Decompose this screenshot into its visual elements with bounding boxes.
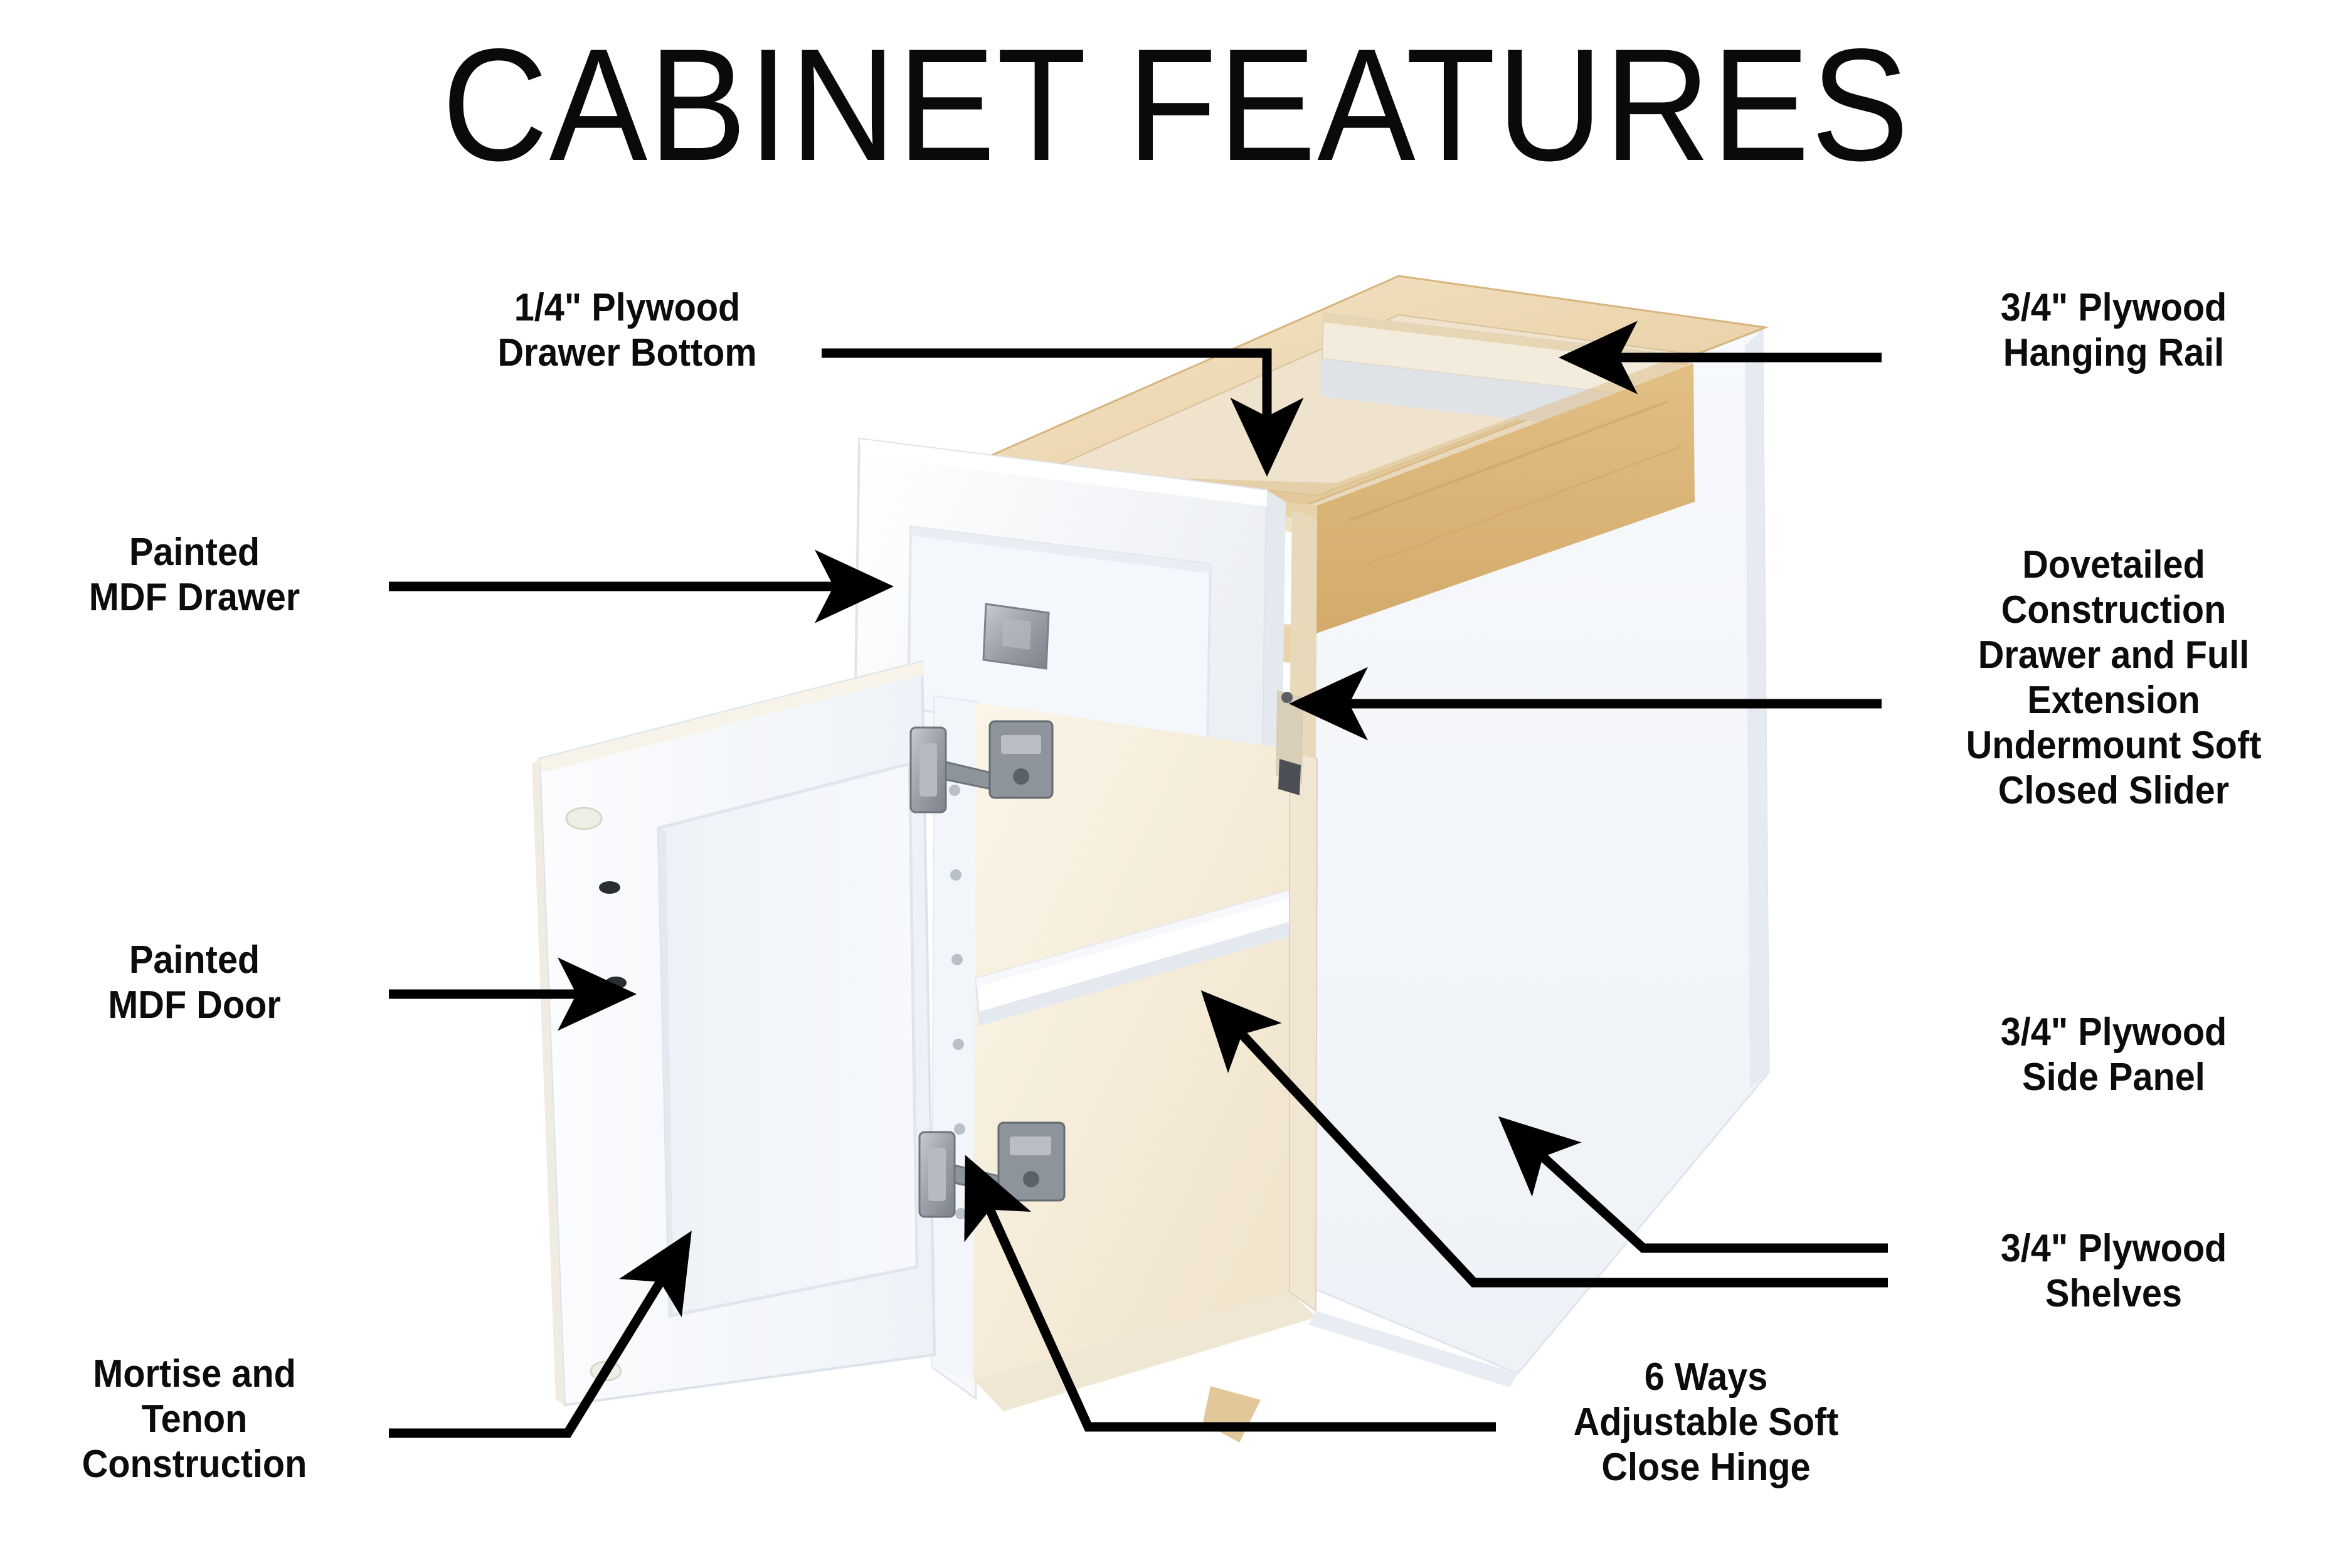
poster-canvas: CABINET FEATURES	[0, 0, 2352, 1568]
label-dovetail-slider: Dovetailed Construction Drawer and Full …	[1898, 543, 2329, 813]
drawer-knob	[983, 604, 1049, 669]
label-painted-mdf-drawer: Painted MDF Drawer	[14, 530, 376, 620]
label-drawer-bottom: 1/4" Plywood Drawer Bottom	[336, 285, 919, 376]
label-side-panel: 3/4" Plywood Side Panel	[1910, 1010, 2318, 1100]
label-painted-mdf-door: Painted MDF Door	[14, 938, 376, 1028]
cabinet-front-right-edge	[1290, 509, 1317, 1311]
label-shelves: 3/4" Plywood Shelves	[1910, 1226, 2318, 1316]
label-hanging-rail: 3/4" Plywood Hanging Rail	[1910, 285, 2318, 376]
cabinet-front-opening	[932, 696, 1317, 1411]
undermount-slide	[1276, 690, 1303, 795]
cabinet-door	[532, 662, 935, 1405]
label-soft-close-hinge: 6 Ways Adjustable Soft Close Hinge	[1502, 1355, 1910, 1490]
label-mortise-tenon: Mortise and Tenon Construction	[14, 1352, 376, 1487]
